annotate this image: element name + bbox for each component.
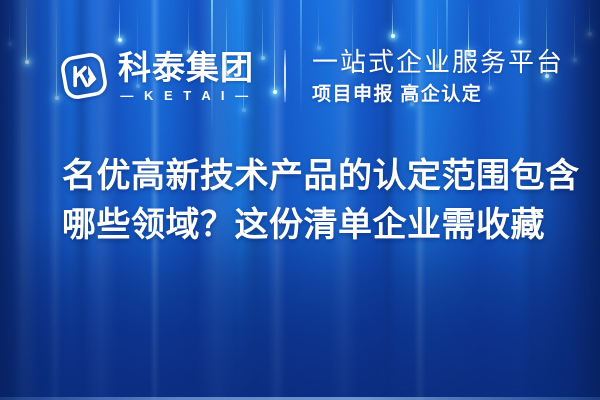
banner-header: 科泰集团 — K E T A I — 一站式企业服务平台 项目申报 高企认定: [58, 40, 564, 112]
headline: 名优高新技术产品的认定范围包含 哪些领域？这份清单企业需收藏: [62, 152, 552, 251]
brand-wordmark: 科泰集团 — K E T A I —: [118, 51, 254, 102]
promo-banner: 科泰集团 — K E T A I — 一站式企业服务平台 项目申报 高企认定 名…: [0, 0, 600, 400]
ketai-diamond-kd-logo-icon: [58, 50, 110, 102]
slogan-main: 一站式企业服务平台: [312, 49, 564, 75]
header-divider: [284, 50, 286, 102]
headline-line-1: 名优高新技术产品的认定范围包含: [62, 152, 552, 201]
slogan-block: 一站式企业服务平台 项目申报 高企认定: [312, 49, 564, 104]
slogan-sub: 项目申报 高企认定: [312, 85, 564, 104]
brand-logo[interactable]: 科泰集团 — K E T A I —: [58, 50, 254, 102]
headline-line-2: 哪些领域？这份清单企业需收藏: [62, 201, 552, 250]
brand-name-en: — K E T A I —: [118, 89, 254, 102]
brand-name-cn: 科泰集团: [118, 51, 254, 84]
